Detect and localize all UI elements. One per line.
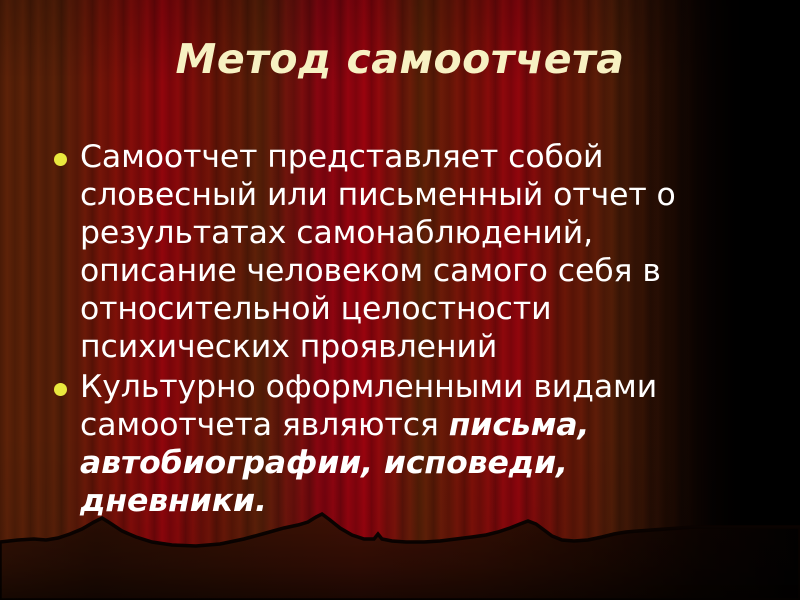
presentation-slide: Метод самоотчета Самоотчет представляет …	[0, 0, 800, 600]
bullet-circle-icon	[54, 153, 67, 166]
slide-body: Самоотчет представляет собой словесный и…	[46, 138, 758, 522]
page-title: Метод самоотчета	[0, 38, 800, 81]
bullet-text: Самоотчет представляет собой словесный и…	[80, 138, 758, 366]
jagged-mountain-icon	[0, 510, 800, 600]
bullet-text-plain: Самоотчет представляет собой словесный и…	[80, 139, 676, 365]
list-item: Культурно оформленными видами самоотчета…	[46, 368, 758, 520]
bottom-jagged-edge-decoration	[0, 510, 800, 600]
list-item: Самоотчет представляет собой словесный и…	[46, 138, 758, 366]
bullet-text: Культурно оформленными видами самоотчета…	[80, 368, 758, 520]
bullet-circle-icon	[54, 383, 67, 396]
